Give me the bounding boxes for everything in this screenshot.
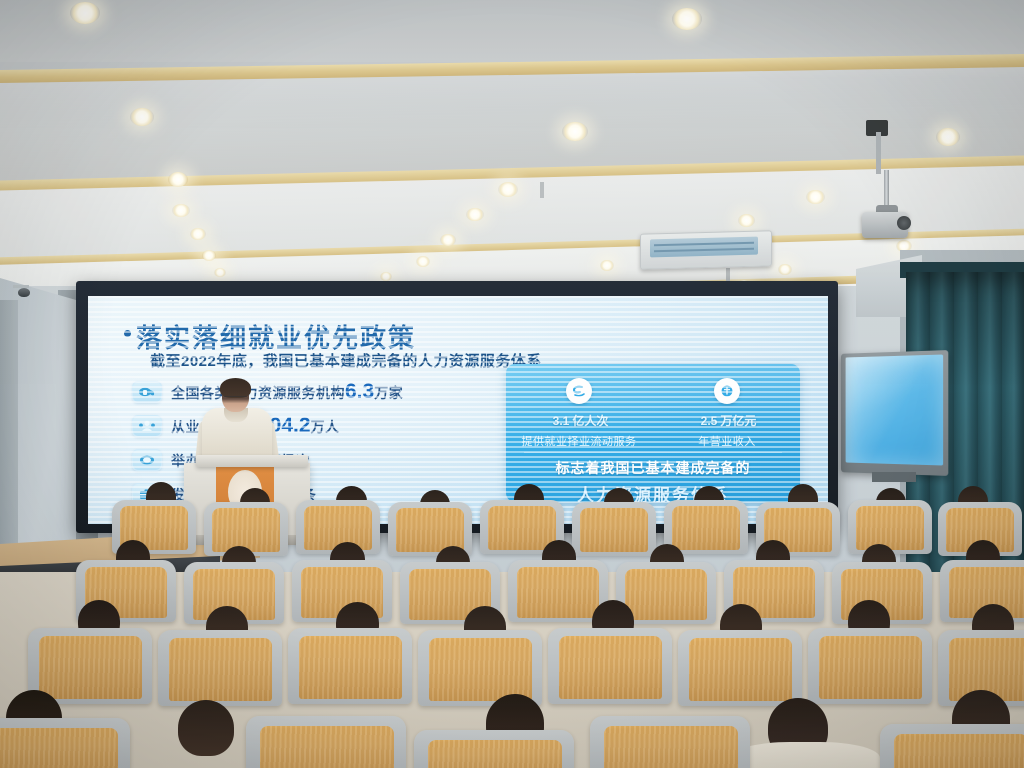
wall-camera-icon bbox=[18, 288, 30, 297]
handshake-icon bbox=[132, 381, 162, 403]
ceiling-downlight bbox=[738, 214, 755, 227]
ceiling-downlight bbox=[168, 172, 188, 187]
chair-backrest bbox=[625, 569, 707, 620]
panel-column: 3.1亿人次 提供就业择业流动服务 bbox=[514, 378, 644, 449]
chair-backrest bbox=[428, 740, 562, 768]
chair-backrest bbox=[517, 567, 599, 618]
chair-backrest bbox=[429, 638, 532, 701]
glasses-icon bbox=[224, 396, 247, 402]
summary-panel: 3.1亿人次 提供就业择业流动服务 2.5万亿元 年营业收入 标志着我国已基本建… bbox=[506, 364, 800, 502]
ceiling-hook bbox=[726, 268, 730, 282]
ceiling-downlight bbox=[130, 108, 154, 126]
chair-backrest bbox=[559, 636, 662, 699]
ceiling-downlight bbox=[806, 190, 825, 204]
panel-caption: 年营业收入 bbox=[662, 433, 792, 449]
audience-shoulders bbox=[730, 742, 880, 768]
ceiling-downlight bbox=[498, 182, 518, 197]
title-bullet-icon bbox=[124, 330, 131, 337]
eye-icon bbox=[132, 449, 162, 471]
service-flow-icon bbox=[566, 378, 592, 404]
lecture-hall-photo: 落实落细就业优先政策 截至2022年底，我国已基本建成完备的人力资源服务体系 全… bbox=[0, 0, 1024, 768]
monitor-stand bbox=[872, 472, 916, 482]
chair-backrest bbox=[604, 726, 738, 768]
projector-hanger bbox=[876, 132, 881, 174]
panel-caption: 提供就业择业流动服务 bbox=[514, 433, 644, 449]
chair-backrest bbox=[894, 734, 1024, 768]
ceiling-downlight bbox=[440, 234, 456, 246]
panel-column: 2.5万亿元 年营业收入 bbox=[662, 378, 792, 449]
ceiling-upper-slab bbox=[0, 0, 1024, 62]
ceiling-downlight bbox=[600, 260, 614, 271]
chair-backrest bbox=[856, 506, 924, 550]
panel-footer: 标志着我国已基本建成完备的 人力资源服务体系 bbox=[506, 458, 800, 502]
slide-subtitle: 截至2022年底，我国已基本建成完备的人力资源服务体系 bbox=[150, 350, 542, 371]
panel-footer-line1: 标志着我国已基本建成完备的 bbox=[506, 458, 800, 478]
ceiling-hook bbox=[540, 182, 544, 198]
chair-backrest bbox=[299, 636, 402, 699]
ceiling-downlight bbox=[778, 264, 792, 275]
ceiling-downlight bbox=[936, 128, 960, 146]
chair-backrest bbox=[580, 508, 648, 552]
chair-backrest bbox=[0, 728, 118, 768]
chair-backrest bbox=[212, 508, 280, 552]
ceiling-downlight bbox=[172, 204, 190, 217]
speaker-hair bbox=[220, 378, 251, 398]
ceiling-downlight bbox=[466, 208, 484, 221]
chair-backrest bbox=[819, 636, 922, 699]
ceiling-downlight bbox=[380, 272, 392, 281]
chair-backrest bbox=[260, 726, 394, 768]
ceiling-downlight bbox=[214, 268, 226, 277]
panel-divider bbox=[524, 452, 782, 453]
panel-number: 2.5万亿元 bbox=[662, 408, 792, 431]
podium-top-surface bbox=[196, 455, 308, 467]
ceiling-downlight bbox=[202, 250, 216, 261]
panel-number: 3.1亿人次 bbox=[514, 408, 644, 431]
ceiling-downlight bbox=[416, 256, 430, 267]
people-group-icon bbox=[132, 415, 162, 437]
chair-backrest bbox=[39, 636, 142, 699]
stat-label: 全国各类人力资源服务机构6.3万家 bbox=[171, 380, 403, 404]
ceiling-downlight bbox=[190, 228, 206, 240]
chair-backrest bbox=[672, 506, 740, 550]
chair-backrest bbox=[169, 638, 272, 701]
projector-lens-icon bbox=[897, 216, 911, 230]
ceiling-downlight bbox=[672, 8, 702, 30]
ceiling-downlight bbox=[562, 122, 588, 141]
monitor-glare bbox=[846, 354, 944, 465]
chair-backrest bbox=[689, 638, 792, 701]
ceiling-downlight bbox=[70, 2, 100, 24]
coin-icon bbox=[714, 378, 740, 404]
panel-footer-line2: 人力资源服务体系 bbox=[506, 481, 800, 502]
stat-row: 全国各类人力资源服务机构6.3万家 bbox=[132, 380, 403, 404]
audience-head bbox=[178, 700, 234, 756]
chair-backrest bbox=[488, 506, 556, 550]
